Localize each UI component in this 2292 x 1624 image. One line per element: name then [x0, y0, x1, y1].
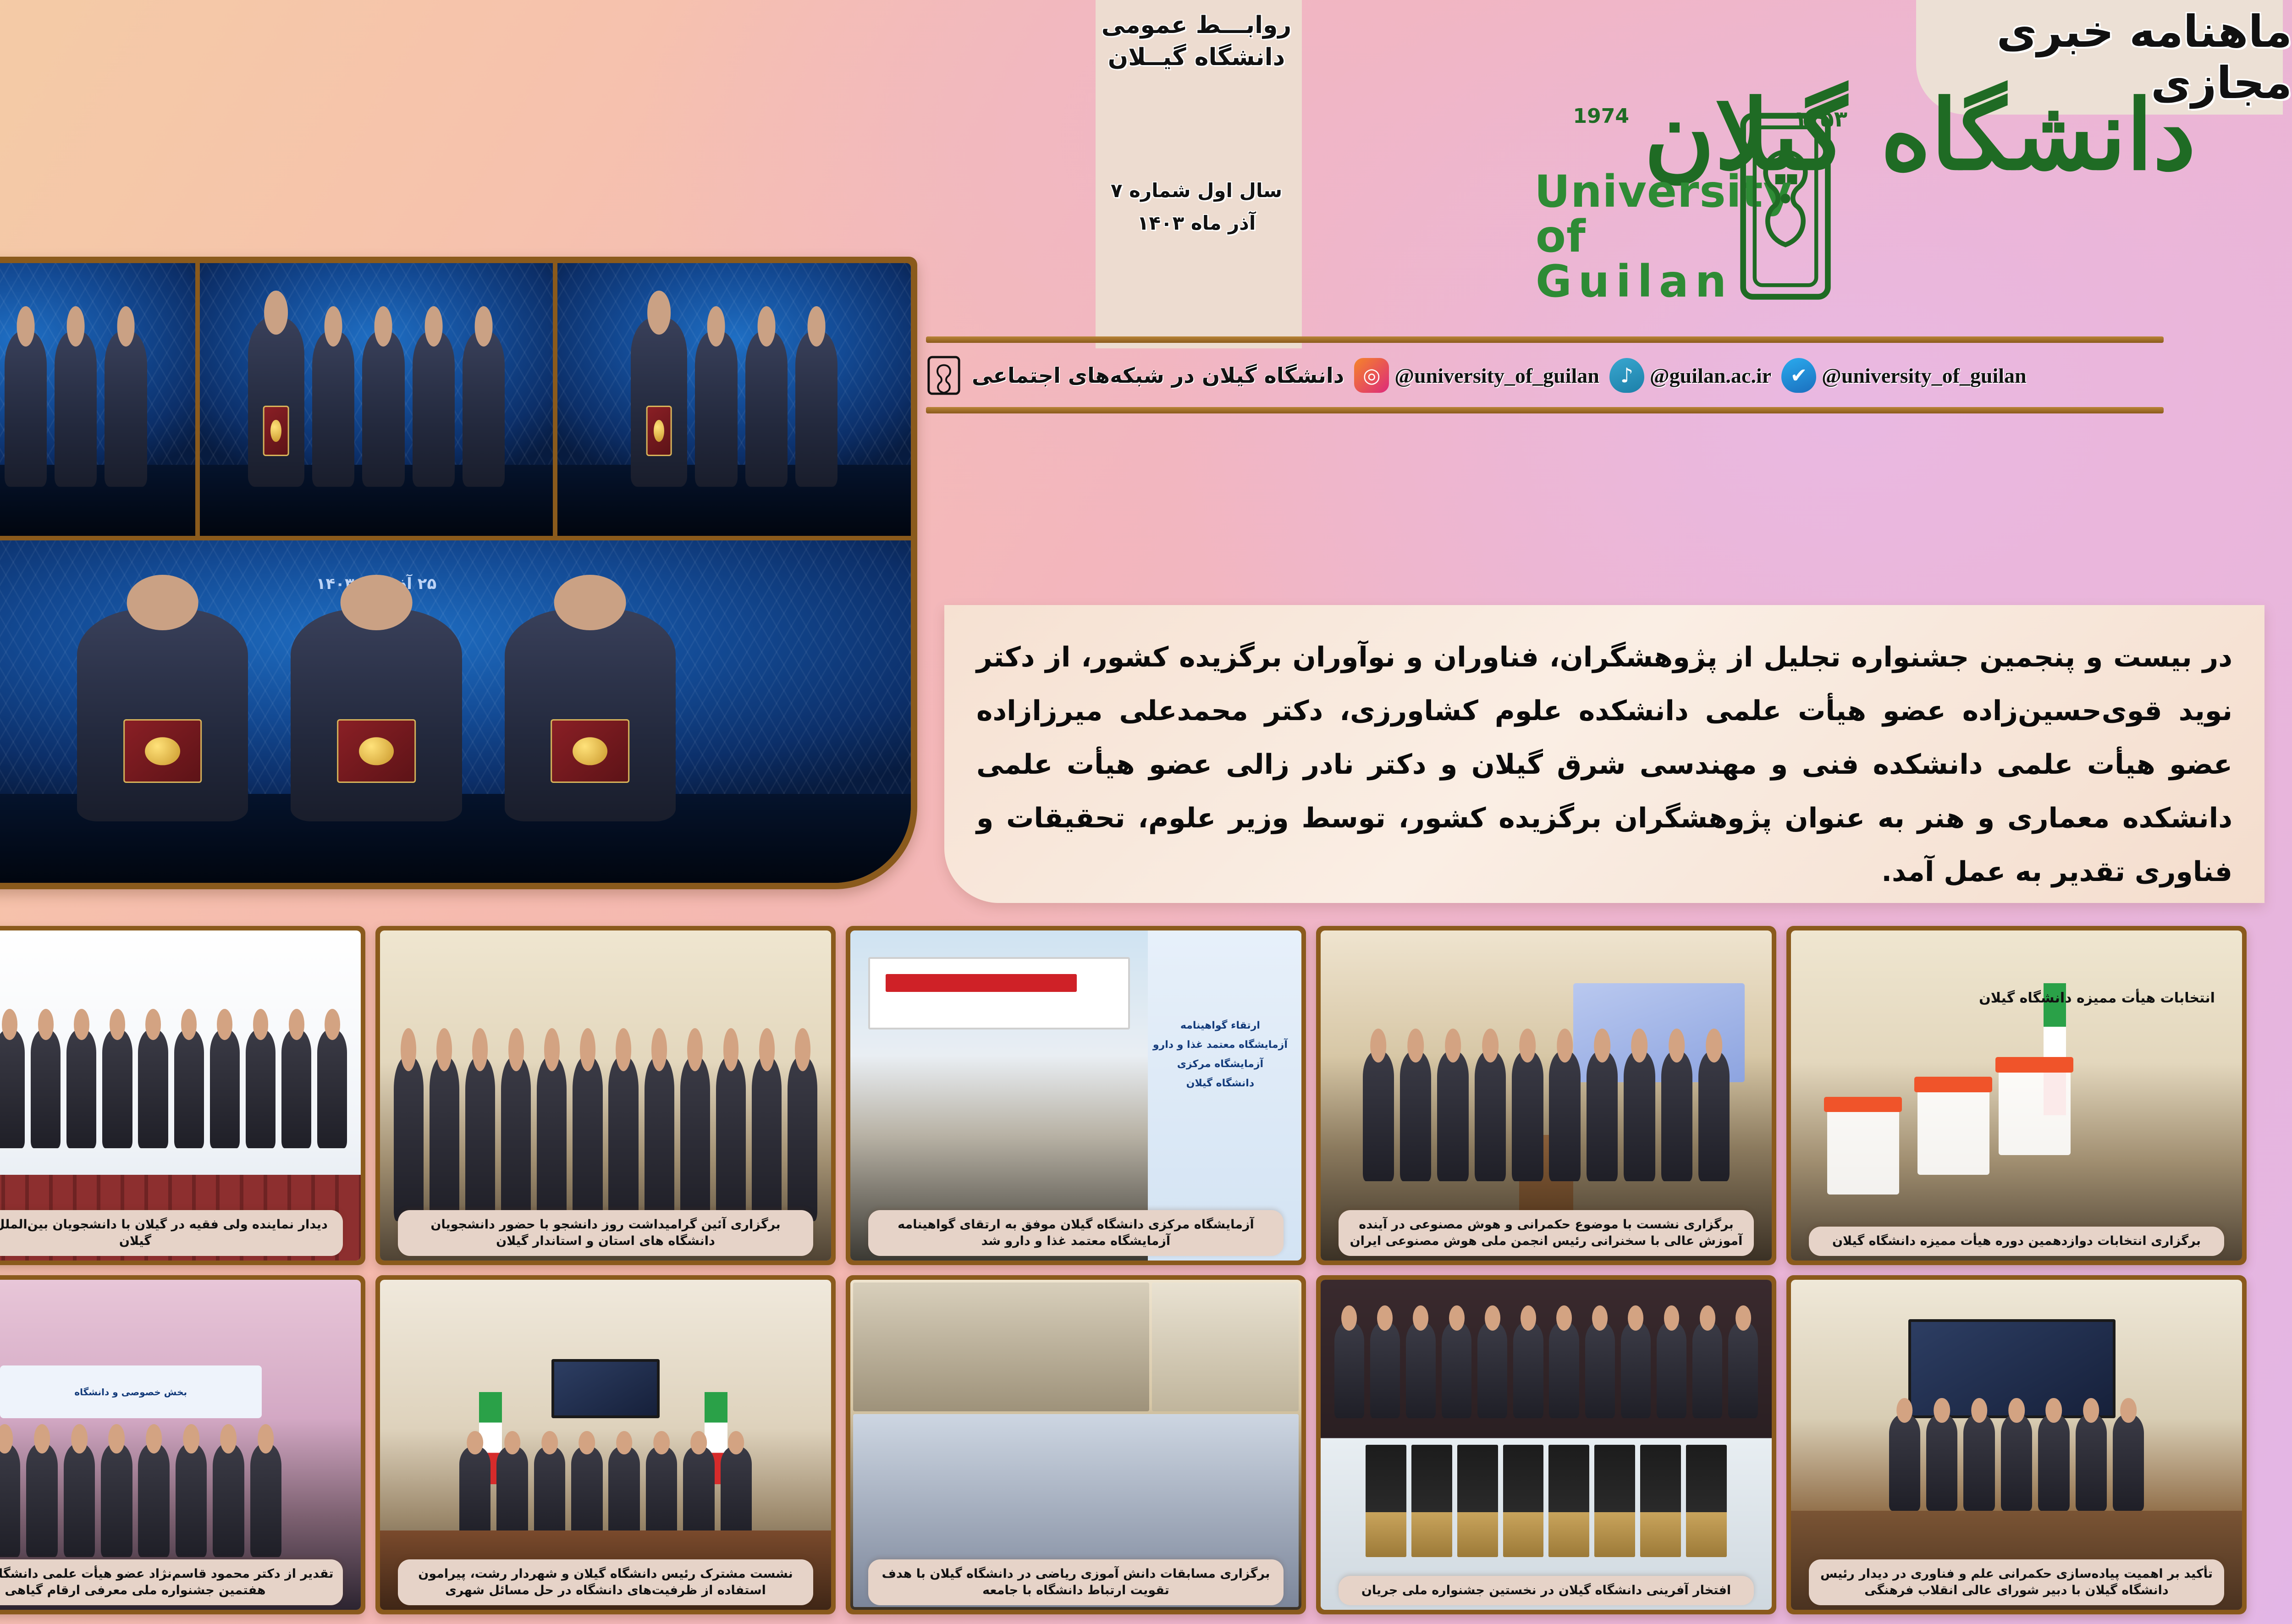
website-icon: ♪ [1609, 358, 1644, 393]
card-caption: آزمایشگاه مرکزی دانشگاه گیلان موفق به ار… [868, 1210, 1283, 1256]
issue-date: آذر ماه ۱۴۰۳ [1100, 207, 1293, 239]
issue-meta: سال اول شماره ۷ آذر ماه ۱۴۰۳ [1100, 174, 1293, 240]
card-overlay-title: انتخابات هیأت ممیزه دانشگاه گیلان [1979, 990, 2215, 1006]
poster-canvas: پیامبر اکرم صلی الله علیه و آله و سلم فا… [0, 0, 2292, 1624]
hero-photo-2 [200, 263, 553, 536]
panel-line-2: آزمایشگاه معتمد غذا و دارو [1148, 1035, 1292, 1055]
telegram-icon: ✔ [1781, 358, 1816, 393]
card-caption: دیدار نماینده ولی فقیه در گیلان با دانشج… [0, 1210, 343, 1256]
social-link-instagram[interactable]: ◎ @university_of_guilan [1354, 358, 1599, 393]
panel-line-3: آزمایشگاه مرکزی [1148, 1055, 1292, 1074]
hero-photo-collage: ۲۵ آذر ماه ۱۴۰۳ [0, 257, 917, 889]
slide-label: بخش خصوصی و دانشگاه [0, 1365, 262, 1418]
lead-article-card: در بیست و پنجمین جشنواره تجلیل از پژوهشگ… [944, 605, 2264, 903]
card-caption: برگزاری آئین گرامیداشت روز دانشجو با حضو… [398, 1210, 813, 1256]
panel-line-4: دانشگاه گیلان [1148, 1074, 1292, 1093]
news-card[interactable]: انتخابات هیأت ممیزه دانشگاه گیلان برگزار… [1786, 926, 2247, 1265]
pr-line-1: روابـــط عمومی دانشگاه گیــلان [1100, 9, 1293, 73]
social-rule-bottom [926, 407, 2164, 413]
news-card[interactable]: برگزاری آئین گرامیداشت روز دانشجو با حضو… [375, 926, 836, 1265]
university-logo-icon [1737, 110, 1834, 303]
news-card[interactable]: برگزاری مسابقات دانش آموزی ریاضی در دانش… [846, 1275, 1306, 1614]
website-handle[interactable]: @guilan.ac.ir [1650, 363, 1771, 388]
news-card[interactable]: دیدار نماینده ولی فقیه در گیلان با دانشج… [0, 926, 365, 1265]
social-link-telegram[interactable]: ✔ @university_of_guilan [1781, 358, 2027, 393]
card-caption: برگزاری مسابقات دانش آموزی ریاضی در دانش… [868, 1559, 1283, 1605]
social-link-website[interactable]: ♪ @guilan.ac.ir [1609, 358, 1771, 393]
founding-year-en: 1974 [1573, 105, 1629, 128]
hero-top-strip [0, 263, 911, 536]
news-card[interactable]: نشست مشترک رئیس دانشگاه گیلان و شهردار ر… [375, 1275, 836, 1614]
news-card-row-1: انتخابات هیأت ممیزه دانشگاه گیلان برگزار… [0, 926, 2247, 1265]
instagram-handle[interactable]: @university_of_guilan [1394, 363, 1599, 388]
university-wordmark: دانشگاه گیلان ۱۳۵۳ 1974 University of Gu… [1325, 83, 2196, 321]
hero-photo-3 [0, 263, 195, 536]
card-caption: نشست مشترک رئیس دانشگاه گیلان و شهردار ر… [398, 1559, 813, 1605]
panel-line-1: ارتقاء گواهینامه [1148, 1016, 1292, 1035]
card-panel-text: ارتقاء گواهینامه آزمایشگاه معتمد غذا و د… [1148, 1016, 1292, 1093]
issue-number: سال اول شماره ۷ [1100, 174, 1293, 207]
news-card[interactable]: بخش خصوصی و دانشگاه تقدیر از دکتر محمود … [0, 1275, 365, 1614]
news-card[interactable]: برگزاری نشست با موضوع حکمرانی و هوش مصنو… [1316, 926, 1776, 1265]
news-card[interactable]: ارتقاء گواهینامه آزمایشگاه معتمد غذا و د… [846, 926, 1306, 1265]
social-links[interactable]: دانشگاه گیلان در شبکه‌های اجتماعی ◎ @uni… [926, 350, 2164, 401]
card-caption: افتخار آفرینی دانشگاه گیلان در نخستین جش… [1339, 1576, 1753, 1605]
instagram-icon: ◎ [1354, 358, 1389, 393]
news-card[interactable]: تأکید بر اهمیت پیاده‌سازی حکمرانی علم و … [1786, 1275, 2247, 1614]
social-rule-top [926, 336, 2164, 343]
hero-photo-main: ۲۵ آذر ماه ۱۴۰۳ [0, 540, 911, 883]
public-relations-label: روابـــط عمومی دانشگاه گیــلان [1100, 9, 1293, 73]
news-card[interactable]: افتخار آفرینی دانشگاه گیلان در نخستین جش… [1316, 1275, 1776, 1614]
card-caption: برگزاری نشست با موضوع حکمرانی و هوش مصنو… [1339, 1210, 1753, 1256]
social-bar: دانشگاه گیلان در شبکه‌های اجتماعی ◎ @uni… [926, 328, 2219, 429]
news-card-row-2: تأکید بر اهمیت پیاده‌سازی حکمرانی علم و … [0, 1275, 2247, 1614]
lead-article-text: در بیست و پنجمین جشنواره تجلیل از پژوهشگ… [976, 631, 2232, 877]
university-seal-icon [926, 355, 962, 396]
card-caption: برگزاری انتخابات دوازدهمین دوره هیأت ممی… [1809, 1227, 2224, 1256]
hero-photo-1 [557, 263, 911, 536]
telegram-handle[interactable]: @university_of_guilan [1822, 363, 2027, 388]
card-caption: تقدیر از دکتر محمود قاسم‌نژاد عضو هیأت ع… [0, 1559, 343, 1605]
card-caption: تأکید بر اهمیت پیاده‌سازی حکمرانی علم و … [1809, 1559, 2224, 1605]
social-lead-label: دانشگاه گیلان در شبکه‌های اجتماعی [972, 363, 1344, 388]
